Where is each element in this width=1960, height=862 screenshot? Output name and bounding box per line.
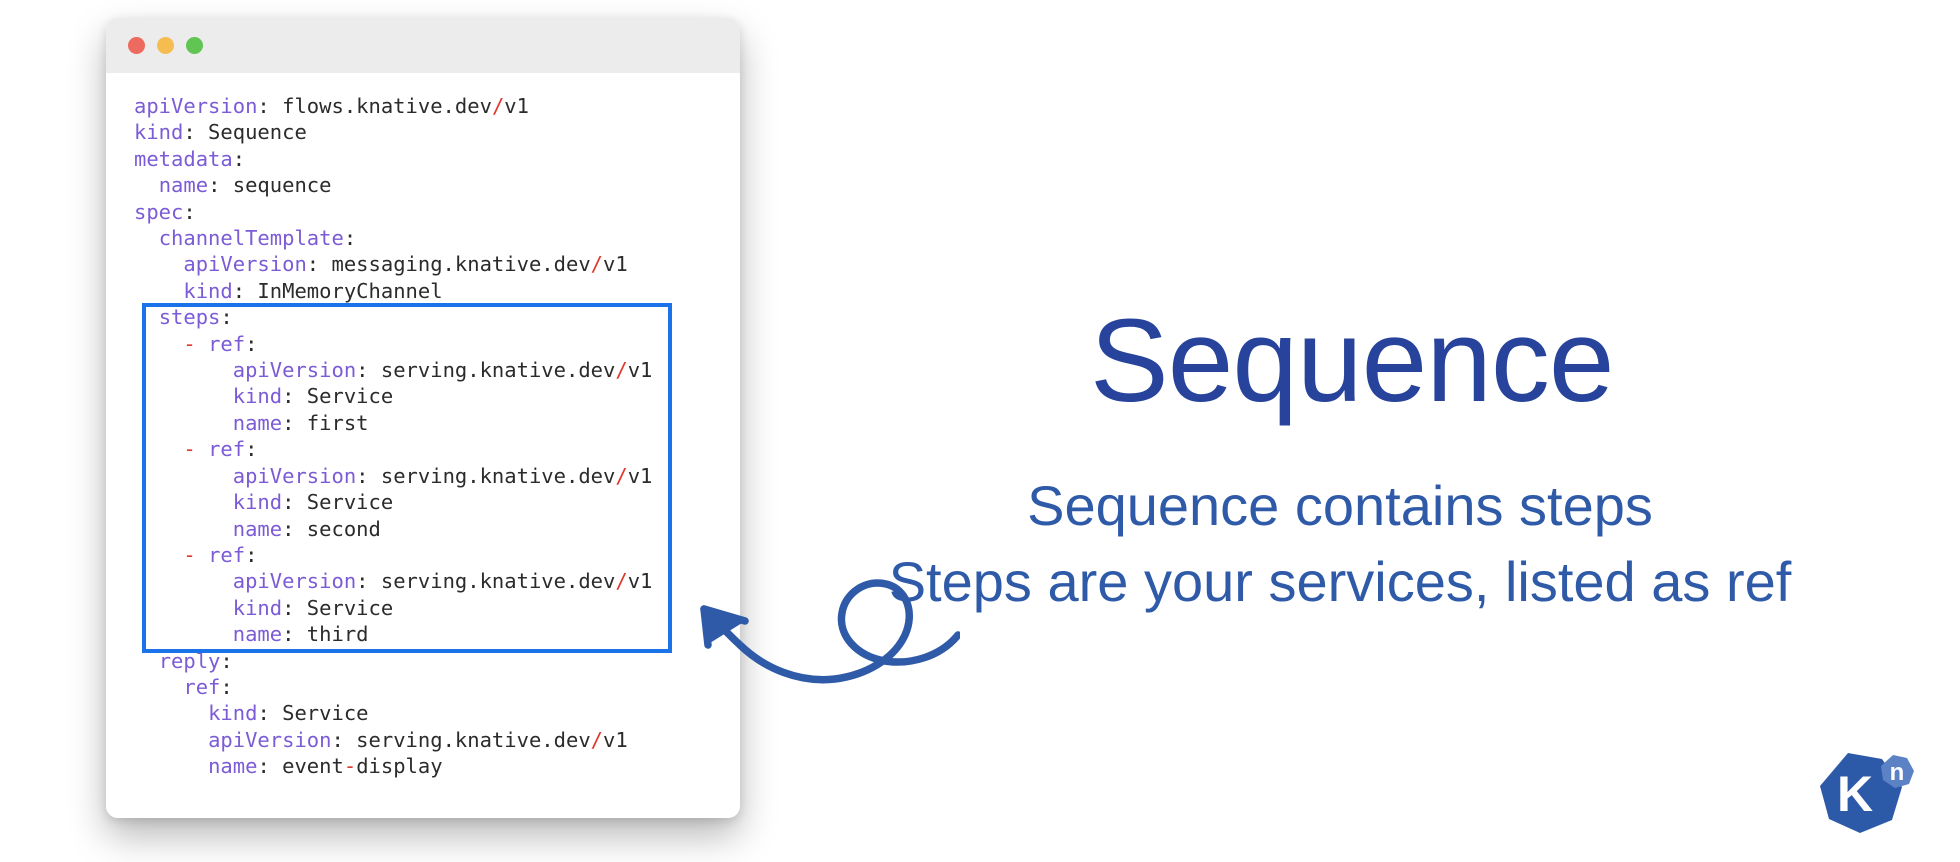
subtitle-line-2: Steps are your services, listed as ref <box>880 544 1800 620</box>
close-dot[interactable] <box>128 37 145 54</box>
curved-arrow-icon <box>670 565 960 690</box>
yaml-code-block: apiVersion: flows.knative.dev/v1 kind: S… <box>106 93 740 780</box>
code-body: apiVersion: flows.knative.dev/v1 kind: S… <box>106 73 740 818</box>
knative-logo: K n <box>1810 745 1920 845</box>
subtitle-line-1: Sequence contains steps <box>880 468 1800 544</box>
code-editor-window: apiVersion: flows.knative.dev/v1 kind: S… <box>106 18 740 818</box>
window-titlebar <box>106 18 740 73</box>
subtitle-block: Sequence contains steps Steps are your s… <box>880 468 1800 620</box>
knative-letter-k: K <box>1837 766 1873 822</box>
minimize-dot[interactable] <box>157 37 174 54</box>
page-title: Sequence <box>1090 300 1590 424</box>
zoom-dot[interactable] <box>186 37 203 54</box>
knative-letter-n: n <box>1890 759 1905 786</box>
